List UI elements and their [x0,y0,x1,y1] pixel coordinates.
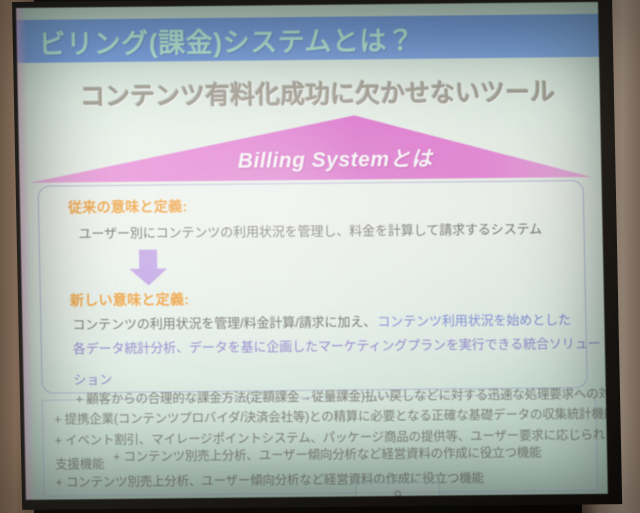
section-new-line-1b: コンテンツ利用状況を始めとした [377,309,571,330]
banner-label: Billing Systemとは [29,141,592,177]
down-arrow-head [129,268,167,285]
slide-title: ビリング(課金)システムとは？ [38,19,414,62]
section-new-line-1a: コンテンツの利用状況を管理/料金計算/請求に加え、 [72,311,376,333]
bullet-item-4: 支援機能 [55,453,105,473]
down-arrow-icon [129,249,168,285]
billing-system-banner: Billing Systemとは [28,113,591,183]
down-arrow-stem [139,250,157,270]
section-heading-new: 新しい意味と定義: [70,289,190,310]
section-heading-traditional: 従来の意味と定義: [68,196,188,217]
slide-subtitle: コンテンツ有料化成功に欠かせないツール [67,72,568,113]
slide-title-bar: ビリング(課金)システムとは？ [16,14,599,63]
section-new-line-3: ション [73,369,112,388]
presentation-slide: ビリング(課金)システムとは？ コンテンツ有料化成功に欠かせないツール Bill… [16,2,608,500]
photo-scene: ビリング(課金)システムとは？ コンテンツ有料化成功に欠かせないツール Bill… [0,0,640,513]
